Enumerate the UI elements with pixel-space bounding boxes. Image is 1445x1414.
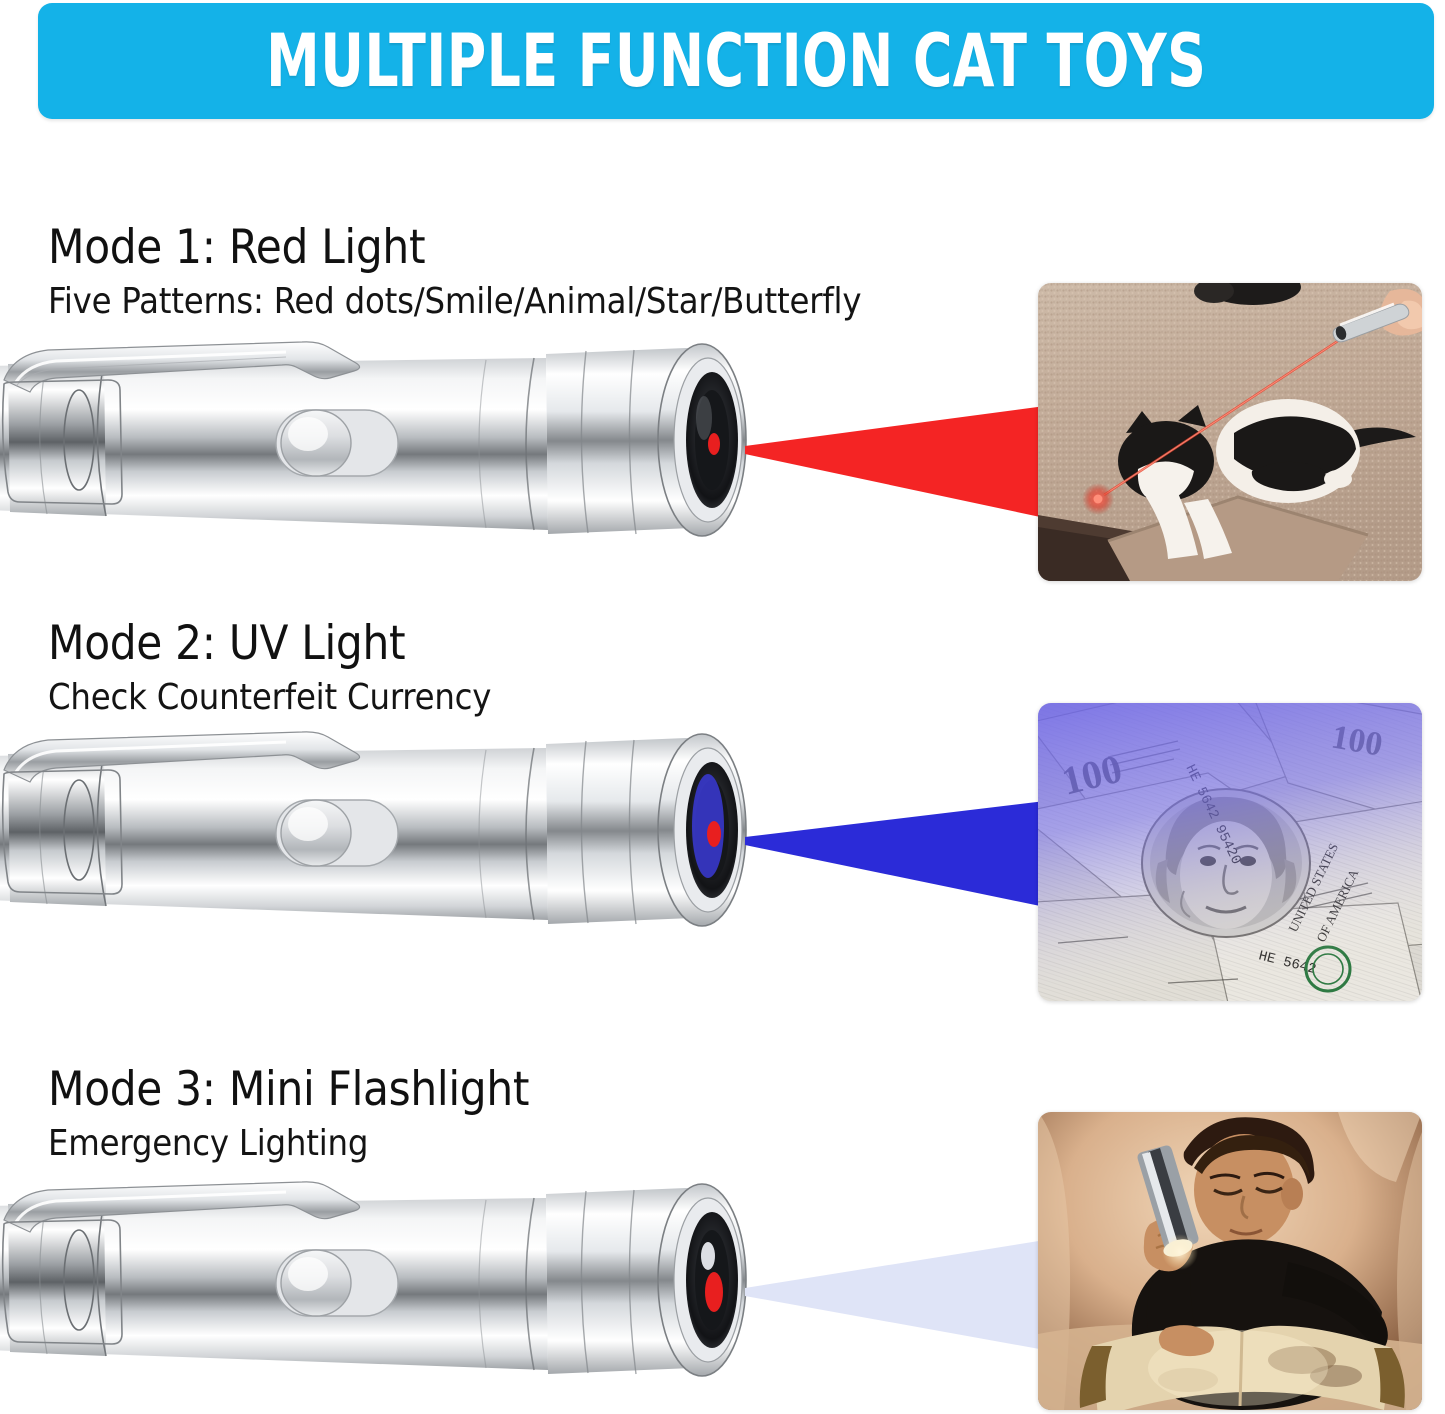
mode-3-text-block: Mode 3: Mini Flashlight Emergency Lighti…: [48, 1064, 529, 1166]
mode-2-subtitle: Check Counterfeit Currency: [48, 676, 491, 720]
cat-photo-svg: [1038, 283, 1422, 581]
flashlight-illustration-mode-2: [0, 730, 786, 950]
infographic-page: MULTIPLE FUNCTION CAT TOYS Mode 1: Red L…: [0, 0, 1445, 1414]
page-title: MULTIPLE FUNCTION CAT TOYS: [266, 25, 1206, 98]
mode-1-subtitle: Five Patterns: Red dots/Smile/Animal/Sta…: [48, 280, 861, 324]
boy-photo-svg: [1038, 1112, 1422, 1410]
header-banner: MULTIPLE FUNCTION CAT TOYS: [38, 3, 1434, 119]
flashlight-illustration-mode-1: [0, 340, 786, 560]
flashlight-illustration-mode-3: [0, 1180, 786, 1400]
uv-blue-beam: [745, 795, 1045, 920]
counterfeit-currency-photo: 100 100 HE 5642 95420 HE 5642: [1038, 703, 1422, 1001]
mode-2-text-block: Mode 2: UV Light Check Counterfeit Curre…: [48, 618, 491, 720]
mode-3-subtitle: Emergency Lighting: [48, 1122, 529, 1166]
white-flashlight-beam: [745, 1240, 1045, 1370]
uv-beam-svg: [745, 795, 1045, 920]
flashlight-svg: [0, 730, 786, 950]
mode-3-title: Mode 3: Mini Flashlight: [48, 1064, 529, 1116]
mode-2-title: Mode 2: UV Light: [48, 618, 491, 670]
flashlight-svg: [0, 1180, 786, 1400]
mode-1-title: Mode 1: Red Light: [48, 222, 861, 274]
currency-photo-svg: 100 100 HE 5642 95420 HE 5642: [1038, 703, 1422, 1001]
white-beam-svg: [745, 1240, 1045, 1370]
red-laser-beam: [745, 398, 1045, 528]
flashlight-svg: [0, 340, 786, 560]
cat-chasing-laser-photo: [1038, 283, 1422, 581]
red-beam-svg: [745, 398, 1045, 528]
mode-1-text-block: Mode 1: Red Light Five Patterns: Red dot…: [48, 222, 861, 324]
boy-reading-with-flashlight-photo: [1038, 1112, 1422, 1410]
